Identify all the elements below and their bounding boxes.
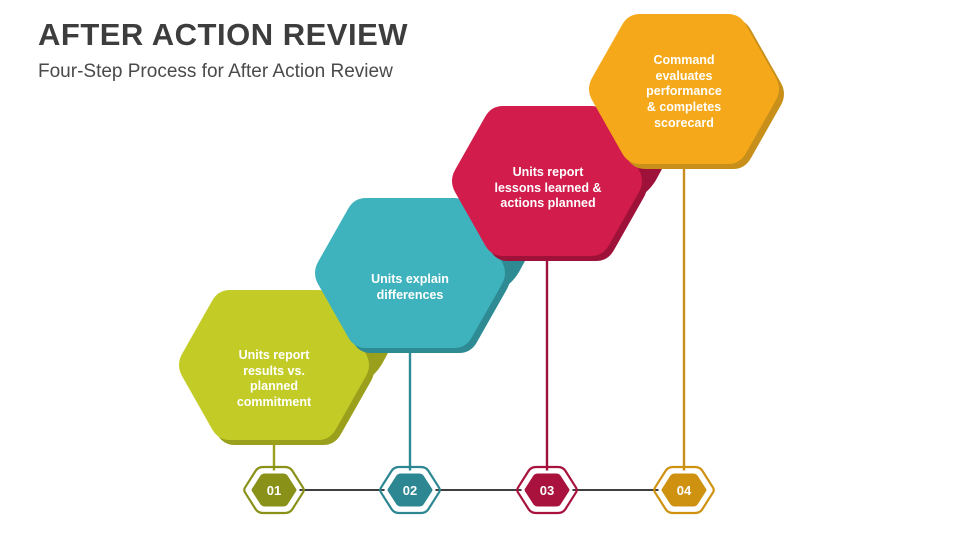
badge-step-2[interactable] <box>380 467 440 513</box>
step-hexagon-4[interactable] <box>589 14 784 169</box>
badge-step-2-fill <box>386 472 434 508</box>
badge-step-3-fill <box>523 472 571 508</box>
diagram-svg <box>0 0 960 540</box>
badge-step-1-fill <box>250 472 298 508</box>
badge-step-3[interactable] <box>517 467 577 513</box>
badge-step-4-fill <box>660 472 708 508</box>
slide-canvas: AFTER ACTION REVIEW Four-Step Process fo… <box>0 0 960 540</box>
badge-step-1[interactable] <box>244 467 304 513</box>
process-diagram: Units report results vs. planned commitm… <box>0 0 960 540</box>
badge-step-4[interactable] <box>654 467 714 513</box>
step-hexagon-4-fill <box>589 14 779 164</box>
